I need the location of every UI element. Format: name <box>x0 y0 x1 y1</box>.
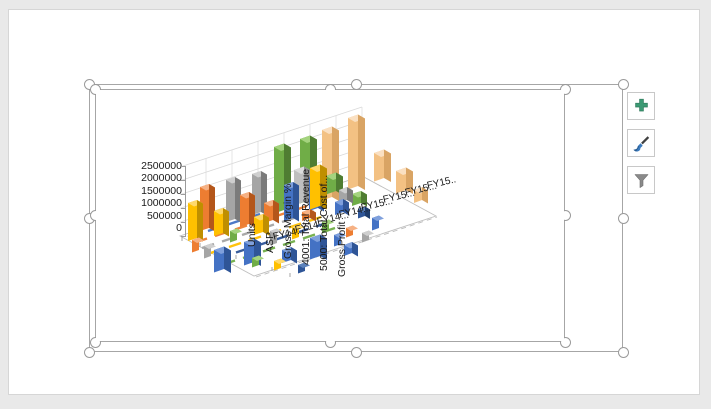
value-axis-tick-4 <box>181 222 186 223</box>
y-tick-label-0: 2500000 <box>104 160 182 172</box>
chart-styles-button[interactable] <box>627 129 655 157</box>
value-axis-tick-5 <box>181 236 186 237</box>
resize-handle-outer-bottom-left[interactable] <box>84 347 95 358</box>
value-axis-line <box>185 166 186 236</box>
y-tick-label-4: 500000 <box>104 210 182 222</box>
plus-icon <box>633 98 650 115</box>
resize-handle-outer-middle-right[interactable] <box>618 213 629 224</box>
chart-area[interactable]: Units ASP Gross Margin % 4001: Total Rev… <box>96 90 564 341</box>
funnel-icon <box>633 172 650 189</box>
resize-handle-outer-top-right[interactable] <box>618 79 629 90</box>
value-axis-tick-3 <box>181 208 186 209</box>
y-tick-label-3: 1000000 <box>104 197 182 209</box>
category-label-0: Units <box>246 223 258 247</box>
chart-filters-button[interactable] <box>627 166 655 194</box>
paintbrush-icon <box>632 134 651 153</box>
value-axis-tick-0 <box>181 166 186 167</box>
y-tick-label-2: 1500000 <box>104 185 182 197</box>
y-tick-label-5: 0 <box>104 222 182 234</box>
category-label-3: 4001: Total Revenue <box>300 169 312 265</box>
category-label-2: Gross Margin % <box>282 184 294 259</box>
value-axis-labels: 2500000 2000000 1500000 1000000 500000 0 <box>104 160 182 234</box>
category-label-5: Gross Profit <box>336 222 348 277</box>
value-axis-tick-2 <box>181 194 186 195</box>
chart-elements-button[interactable] <box>627 92 655 120</box>
resize-handle-outer-bottom-center[interactable] <box>351 347 362 358</box>
spreadsheet-page: Units ASP Gross Margin % 4001: Total Rev… <box>8 9 700 395</box>
resize-handle-outer-top-center[interactable] <box>351 79 362 90</box>
y-tick-label-1: 2000000 <box>104 172 182 184</box>
chart-side-buttons[interactable] <box>627 92 661 203</box>
value-axis-tick-1 <box>181 180 186 181</box>
resize-handle-outer-bottom-right[interactable] <box>618 347 629 358</box>
